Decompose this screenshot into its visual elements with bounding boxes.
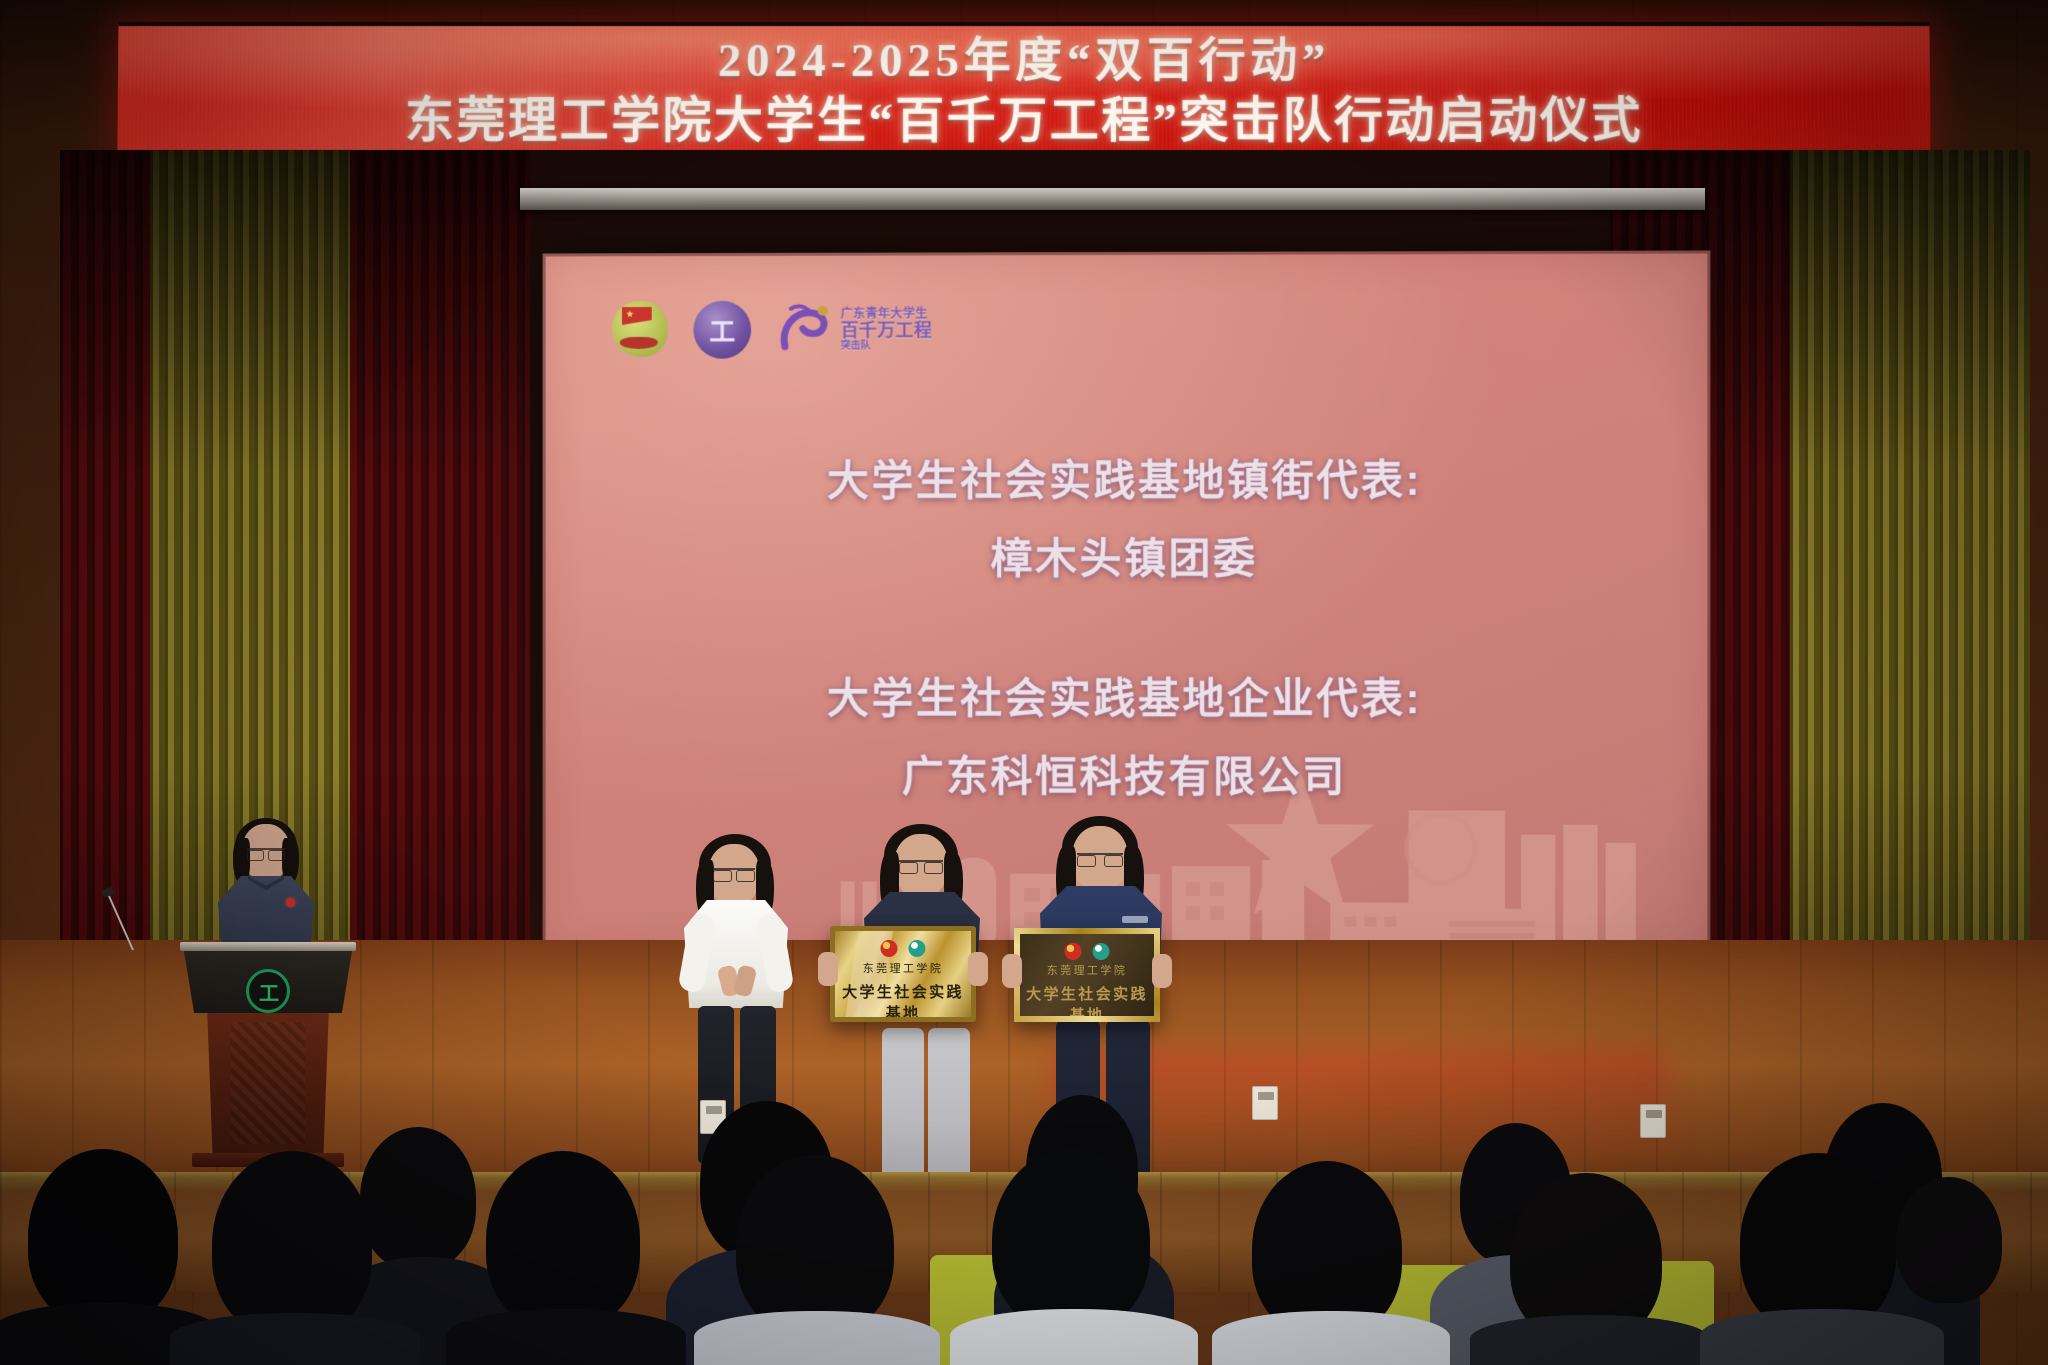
swoosh-icon <box>777 303 835 357</box>
audience-foreground <box>0 1180 2048 1365</box>
event-banner: 2024-2025年度“双百行动” 东莞理工学院大学生“百千万工程”突击队行动启… <box>117 22 1930 150</box>
speaker-figure <box>208 824 324 949</box>
plaque-gold-line1: 东莞理工学院 <box>835 960 971 976</box>
slide-town-value: 樟木头镇团委 <box>543 520 1711 598</box>
projection-screen-housing <box>520 188 1705 210</box>
auditorium-scene: 2024-2025年度“双百行动” 东莞理工学院大学生“百千万工程”突击队行动启… <box>0 0 2048 1365</box>
recipient-left-glasses-icon <box>713 868 755 878</box>
banner-line-2: 东莞理工学院大学生“百千万工程”突击队行动启动仪式 <box>117 90 1930 150</box>
audience-head-b1 <box>360 1127 476 1269</box>
audience-body-f5 <box>950 1309 1198 1365</box>
recipient-right-glasses-icon <box>1077 853 1123 863</box>
plaque-dark-line2: 大学生社会实践基地 <box>1020 983 1154 1022</box>
audience-body-f3 <box>446 1309 686 1365</box>
recipient-right-hand-right <box>1152 954 1172 988</box>
audience-head-b6 <box>1896 1177 2002 1303</box>
recipient-center-hand-left <box>818 952 838 986</box>
plaque-gold-line2: 大学生社会实践基地 <box>835 981 971 1022</box>
plaque-gold-seals <box>881 940 926 957</box>
podium-front-panel: 工 <box>184 951 352 1013</box>
podium-desktop <box>180 942 356 951</box>
practice-base-plaque-dark: 东莞理工学院 大学生社会实践基地 <box>1014 928 1160 1022</box>
audience-head-f4 <box>736 1155 894 1335</box>
podium-university-seal-icon: 工 <box>246 969 290 1013</box>
slide-enterprise-label: 大学生社会实践基地企业代表: <box>543 660 1711 739</box>
wall-outlet-right <box>1640 1104 1666 1138</box>
dongguan-university-of-technology-emblem-icon: 工 <box>693 301 751 359</box>
audience-head-f8 <box>1740 1153 1896 1333</box>
banner-line-1: 2024-2025年度“双百行动” <box>118 26 1930 90</box>
recipient-right-hand-left <box>1002 954 1022 988</box>
logo-text-tail: 突击队 <box>841 341 932 351</box>
baiqianwan-project-logo: 广东青年大学生 百千万工程 突击队 <box>777 302 932 356</box>
slide-logo-row: 工 广东青年大学生 百千万工程 突击队 <box>612 300 932 358</box>
communist-youth-league-emblem-icon <box>612 301 668 359</box>
audience-head-f2 <box>212 1151 372 1337</box>
logo-text-top: 广东青年大学生 <box>841 307 932 319</box>
practice-base-plaque-gold: 东莞理工学院 大学生社会实践基地 2025年6月 <box>830 926 976 1022</box>
slide-spacer <box>543 598 1711 660</box>
plaque-dark-text: 东莞理工学院 大学生社会实践基地 <box>1020 962 1154 1022</box>
logo-text-main: 百千万工程 <box>841 321 932 339</box>
audience-body-f2 <box>170 1313 420 1365</box>
plaque-dark-seals <box>1065 943 1110 960</box>
university-seal-icon <box>909 940 926 957</box>
audience-body-f8 <box>1700 1309 1944 1365</box>
university-emblem-glyph: 工 <box>709 311 735 348</box>
podium-column <box>202 1013 334 1155</box>
slide-enterprise-value: 广东科恒科技有限公司 <box>543 737 1711 817</box>
plaque-dark-line1: 东莞理工学院 <box>1020 962 1154 978</box>
communist-youth-league-seal-icon <box>881 940 898 957</box>
slide-text-block: 大学生社会实践基地镇街代表: 樟木头镇团委 大学生社会实践基地企业代表: 广东科… <box>543 441 1711 817</box>
audience-head-f5 <box>992 1149 1150 1331</box>
audience-body-f7 <box>1470 1315 1710 1365</box>
recipient-right-logo-patch <box>1122 916 1148 923</box>
audience-head-f1 <box>28 1149 178 1325</box>
speaker-glasses-icon <box>247 848 285 857</box>
university-seal-icon-2 <box>1093 943 1110 960</box>
slide-town-label: 大学生社会实践基地镇街代表: <box>543 441 1711 520</box>
recipient-center-glasses-icon <box>899 860 943 870</box>
audience-body-f4 <box>694 1311 940 1365</box>
podium: 工 <box>196 942 340 1172</box>
plaque-gold-text: 东莞理工学院 大学生社会实践基地 2025年6月 <box>835 960 971 1022</box>
recipient-center-hand-right <box>968 952 988 986</box>
audience-head-f3 <box>486 1151 640 1329</box>
podium-seal-glyph: 工 <box>259 977 277 1006</box>
party-badge-icon <box>286 898 295 907</box>
audience-body-f6 <box>1212 1311 1450 1365</box>
communist-youth-league-seal-icon-2 <box>1065 943 1082 960</box>
